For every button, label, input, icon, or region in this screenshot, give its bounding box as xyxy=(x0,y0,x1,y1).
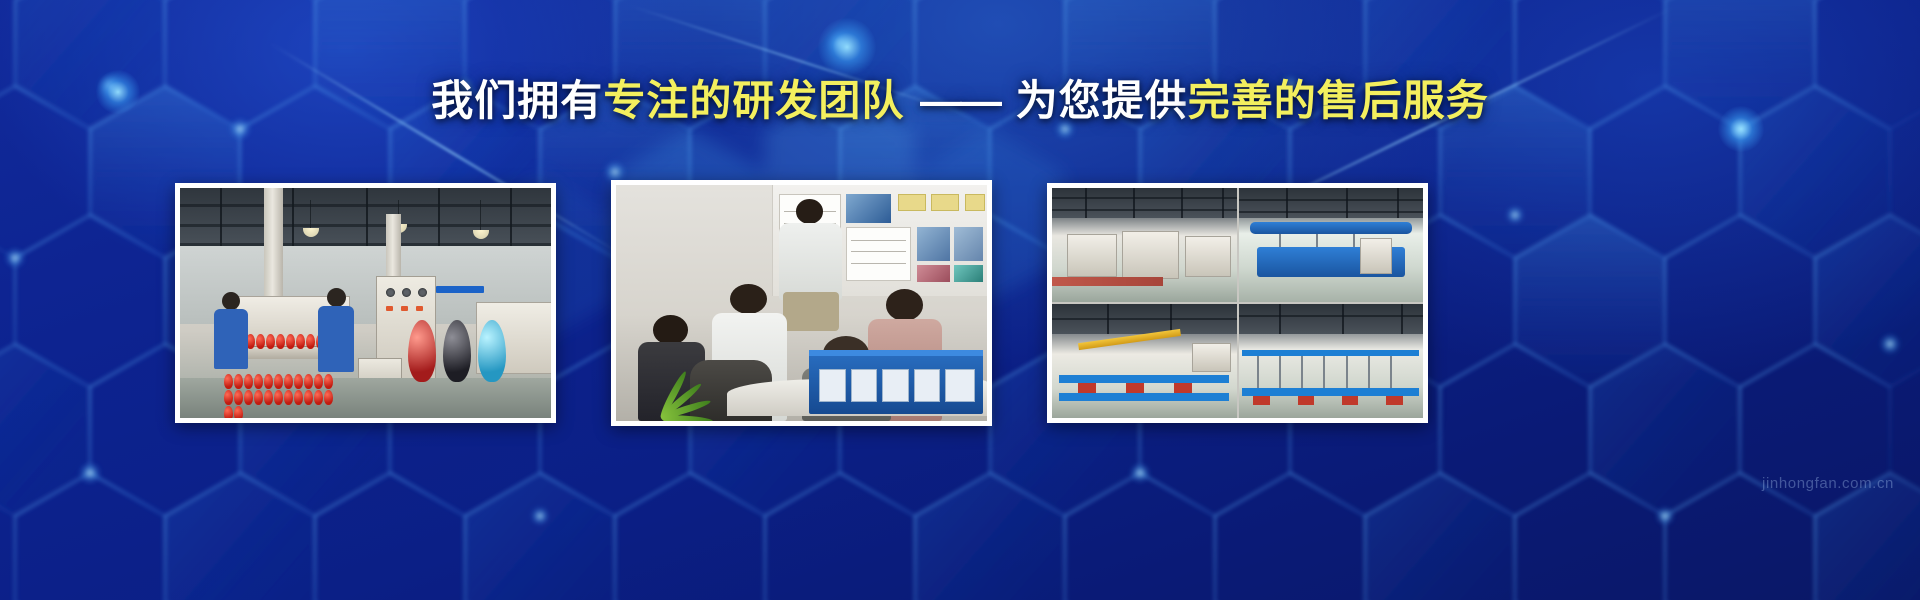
collage-quadrant-2 xyxy=(1239,188,1424,302)
photo-factory-line xyxy=(180,188,551,418)
photo-card-team-meeting[interactable] xyxy=(611,180,992,426)
photo-team-meeting xyxy=(616,185,987,421)
collage-quadrant-4 xyxy=(1239,304,1424,418)
photo-card-factory-line[interactable] xyxy=(175,183,556,423)
headline-segment-1: 我们拥有 xyxy=(431,77,603,124)
headline-segment-2: 专注的研发团队 xyxy=(603,77,904,124)
photo-card-equipment-collage[interactable] xyxy=(1047,183,1428,423)
photo-card-row xyxy=(0,183,1920,413)
headline-dash: —— xyxy=(904,77,1015,124)
collage-quadrant-3 xyxy=(1052,304,1237,418)
site-watermark: jinhongfan.com.cn xyxy=(1762,475,1894,492)
photo-equipment-collage xyxy=(1052,188,1423,418)
collage-quadrant-1 xyxy=(1052,188,1237,302)
banner-headline: 我们拥有专注的研发团队 —— 为您提供完善的售后服务 xyxy=(0,80,1920,122)
promo-banner: 我们拥有专注的研发团队 —— 为您提供完善的售后服务 xyxy=(0,0,1920,600)
headline-segment-4: 完善的售后服务 xyxy=(1188,77,1489,124)
headline-segment-3: 为您提供 xyxy=(1016,77,1188,124)
